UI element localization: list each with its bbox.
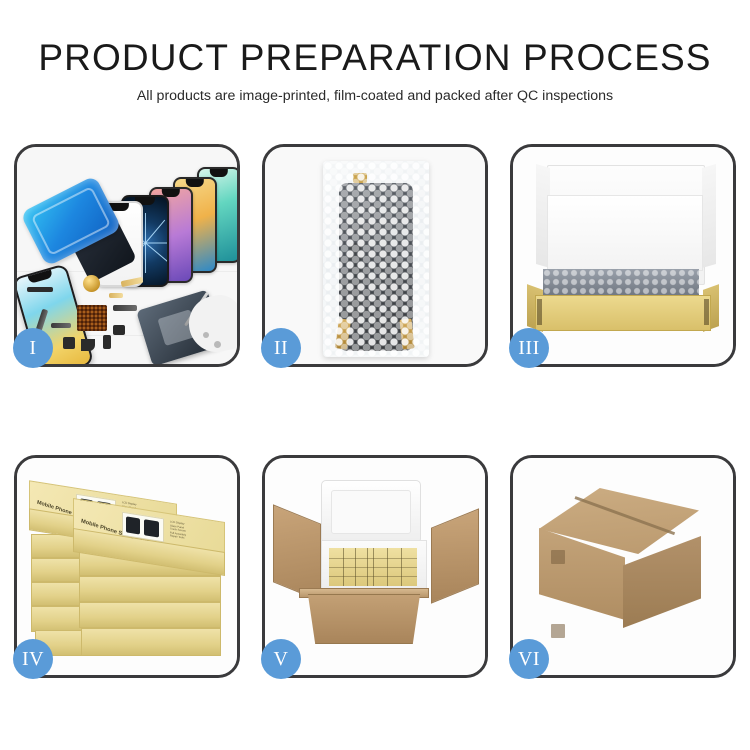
flex-cable-part — [113, 305, 137, 311]
flex-cable-part — [51, 323, 71, 328]
bubble-texture — [323, 161, 429, 357]
spare-part-chip — [63, 337, 75, 349]
gold-flex-part — [109, 293, 123, 298]
page-title: PRODUCT PREPARATION PROCESS — [0, 36, 750, 80]
page-subtitle: All products are image-printed, film-coa… — [0, 86, 750, 106]
grey-bubble-wrap — [543, 269, 699, 297]
foam-cooler-lid — [321, 480, 421, 544]
step-badge-3: III — [509, 328, 549, 368]
connector-grid-part — [77, 305, 107, 331]
spare-part-chip — [113, 325, 125, 335]
spare-part-chip — [27, 287, 53, 292]
box-corner-shadow — [537, 299, 542, 325]
step-badge-1: I — [13, 328, 53, 368]
screw-part — [203, 332, 209, 338]
product-preparation-infographic: PRODUCT PREPARATION PROCESS All products… — [0, 0, 750, 750]
process-step-card-6: VI — [510, 455, 736, 678]
step-6-photo — [513, 458, 733, 675]
white-foam-sheet — [547, 195, 703, 271]
process-step-card-1: I — [14, 144, 240, 367]
kraft-box-front — [535, 295, 711, 331]
process-step-card-5: V — [262, 455, 488, 678]
carton-flap-right — [431, 508, 479, 603]
step-5-photo — [265, 458, 485, 675]
box-feature-list: LCD Display Glass Panel Touch Screen Ful… — [170, 520, 186, 541]
step-2-photo — [265, 147, 485, 364]
stacked-box — [81, 628, 221, 656]
step-badge-4: IV — [13, 639, 53, 679]
screw-part — [214, 341, 221, 348]
stacked-box — [79, 602, 221, 628]
carton-tape-patch — [551, 624, 565, 638]
step-badge-5: V — [261, 639, 301, 679]
spare-part-chip — [103, 335, 111, 349]
label-phone-icon — [126, 516, 140, 534]
carton-tape-patch — [551, 550, 565, 564]
process-step-card-4: Mobile Phone Spare Parts LCD Display Gla… — [14, 455, 240, 678]
process-step-card-3: III — [510, 144, 736, 367]
step-3-photo — [513, 147, 733, 364]
step-4-photo: Mobile Phone Spare Parts LCD Display Gla… — [17, 458, 237, 675]
yellow-boxes-inside — [329, 548, 417, 586]
step-1-photo — [17, 147, 237, 364]
gold-coil-part — [83, 275, 100, 292]
label-phone-icon — [144, 519, 159, 537]
step-badge-2: II — [261, 328, 301, 368]
stacked-box — [79, 576, 221, 602]
header: PRODUCT PREPARATION PROCESS All products… — [0, 36, 750, 106]
box-corner-shadow — [704, 299, 709, 325]
bubble-wrap-bag — [323, 161, 429, 357]
process-step-grid: I II — [14, 144, 736, 678]
process-step-card-2: II — [262, 144, 488, 367]
spare-part-chip — [81, 339, 95, 351]
carton-front-panel — [303, 594, 425, 644]
step-badge-6: VI — [509, 639, 549, 679]
